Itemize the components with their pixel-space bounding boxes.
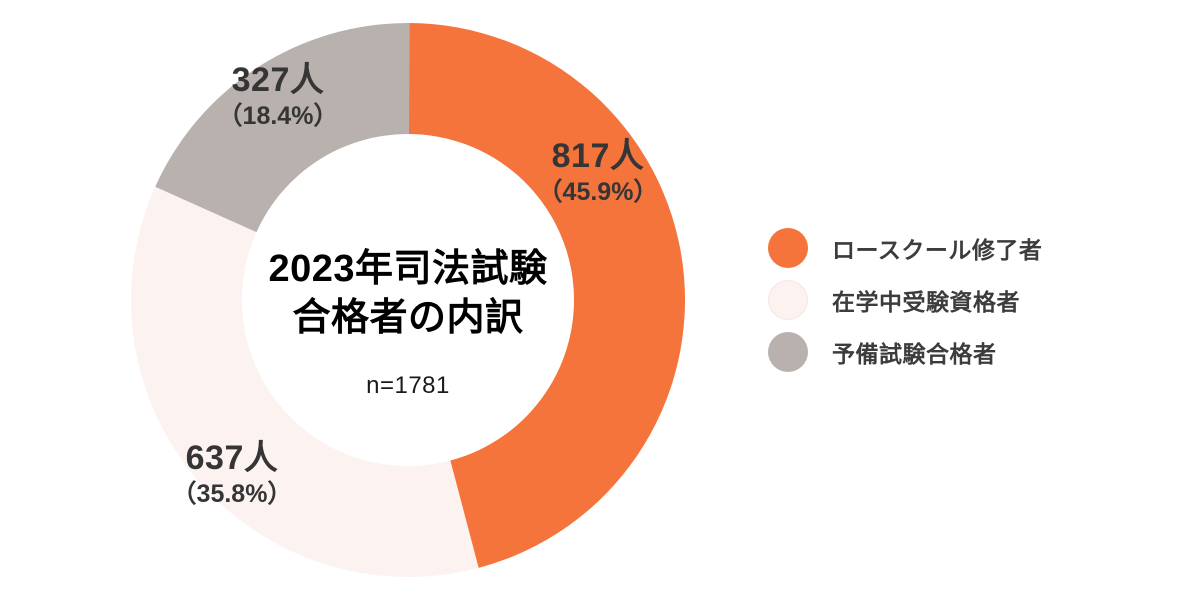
donut-chart xyxy=(130,22,686,578)
donut-slice[interactable] xyxy=(155,23,410,232)
legend-item-preliminary[interactable]: 予備試験合格者 xyxy=(768,326,1098,378)
legend-label-preliminary: 予備試験合格者 xyxy=(832,335,997,369)
donut-slice-group xyxy=(131,23,685,577)
legend-item-law-school[interactable]: ロースクール修了者 xyxy=(768,222,1098,274)
legend-label-law-school: ロースクール修了者 xyxy=(832,231,1042,265)
donut-slice[interactable] xyxy=(131,187,479,577)
legend-label-enrolled: 在学中受験資格者 xyxy=(832,283,1020,317)
legend-item-enrolled[interactable]: 在学中受験資格者 xyxy=(768,274,1098,326)
chart-canvas: 2023年司法試験 合格者の内訳 n=1781 817人 （45.9%） 327… xyxy=(0,0,1200,600)
legend-swatch-enrolled xyxy=(768,280,808,320)
legend-swatch-preliminary xyxy=(768,332,808,372)
donut-svg xyxy=(130,22,686,578)
legend-swatch-law-school xyxy=(768,228,808,268)
chart-legend: ロースクール修了者 在学中受験資格者 予備試験合格者 xyxy=(768,222,1098,378)
